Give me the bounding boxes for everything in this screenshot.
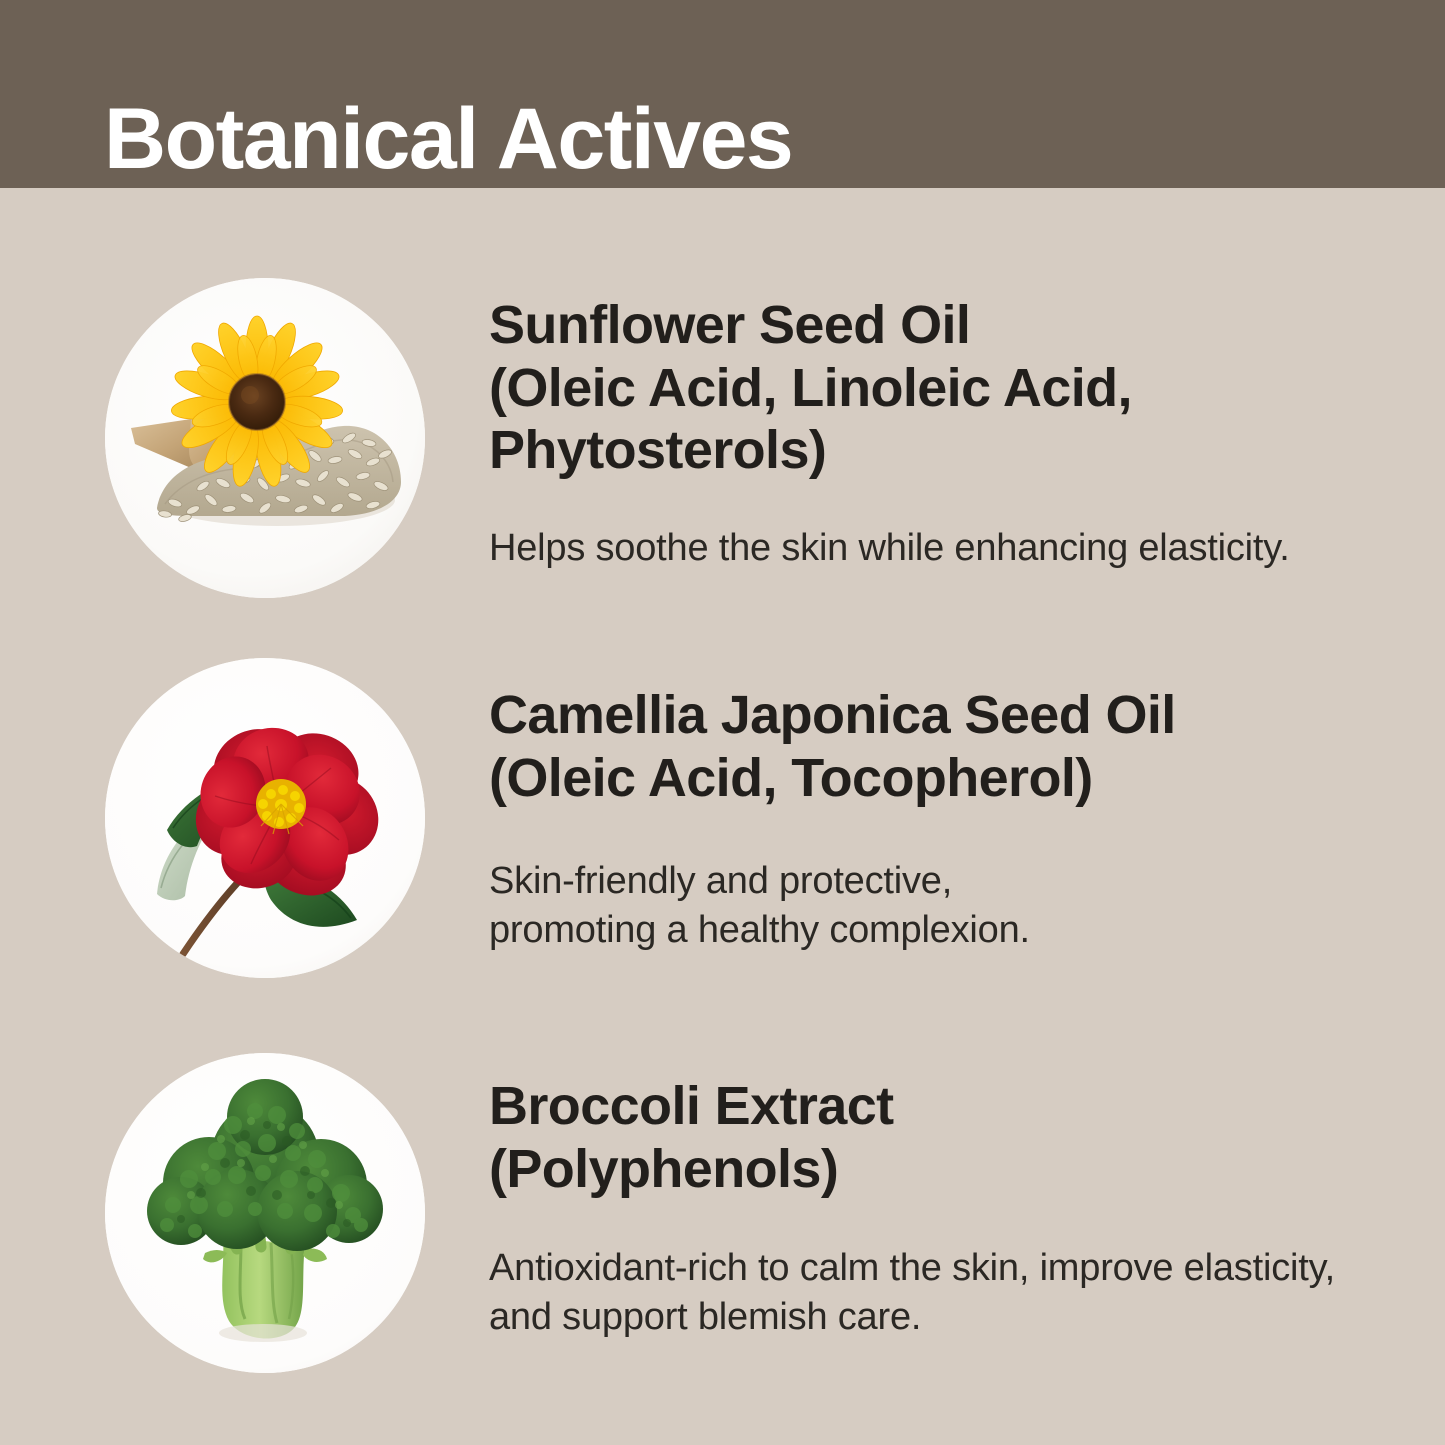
ingredient-title-line: Sunflower Seed Oil [489,294,1399,357]
ingredient-description: Skin-friendly and protective, promoting … [489,857,1399,954]
page-title: Botanical Actives [104,96,792,182]
ingredient-description-line: and support blemish care. [489,1293,1399,1342]
ingredient-title-line: Phytosterols) [489,419,1399,482]
ingredient-title: Sunflower Seed Oil (Oleic Acid, Linoleic… [489,294,1399,482]
ingredient-text-block: Broccoli Extract (Polyphenols) Antioxida… [489,1075,1399,1342]
sunflower-seeds-photo [105,278,425,598]
ingredient-description: Helps soothe the skin while enhancing el… [489,524,1399,573]
camellia-flower-photo [105,658,425,978]
ingredient-description-line: Skin-friendly and protective, [489,857,1399,906]
ingredient-title-line: (Polyphenols) [489,1138,1399,1201]
ingredient-title-line: (Oleic Acid, Linoleic Acid, [489,357,1399,420]
ingredient-description: Antioxidant-rich to calm the skin, impro… [489,1244,1399,1341]
ingredient-title-line: Camellia Japonica Seed Oil [489,684,1399,747]
ingredient-title-line: (Oleic Acid, Tocopherol) [489,747,1399,810]
broccoli-photo [105,1053,425,1373]
ingredient-description-line: Helps soothe the skin while enhancing el… [489,524,1399,573]
header-band: Botanical Actives [0,0,1445,188]
ingredient-text-block: Sunflower Seed Oil (Oleic Acid, Linoleic… [489,294,1399,573]
ingredient-description-line: Antioxidant-rich to calm the skin, impro… [489,1244,1399,1293]
ingredient-title: Camellia Japonica Seed Oil (Oleic Acid, … [489,684,1399,809]
ingredient-title-line: Broccoli Extract [489,1075,1399,1138]
ingredient-description-line: promoting a healthy complexion. [489,906,1399,955]
ingredient-text-block: Camellia Japonica Seed Oil (Oleic Acid, … [489,684,1399,955]
botanical-actives-infographic: Botanical Actives [0,0,1445,1445]
ingredient-title: Broccoli Extract (Polyphenols) [489,1075,1399,1200]
